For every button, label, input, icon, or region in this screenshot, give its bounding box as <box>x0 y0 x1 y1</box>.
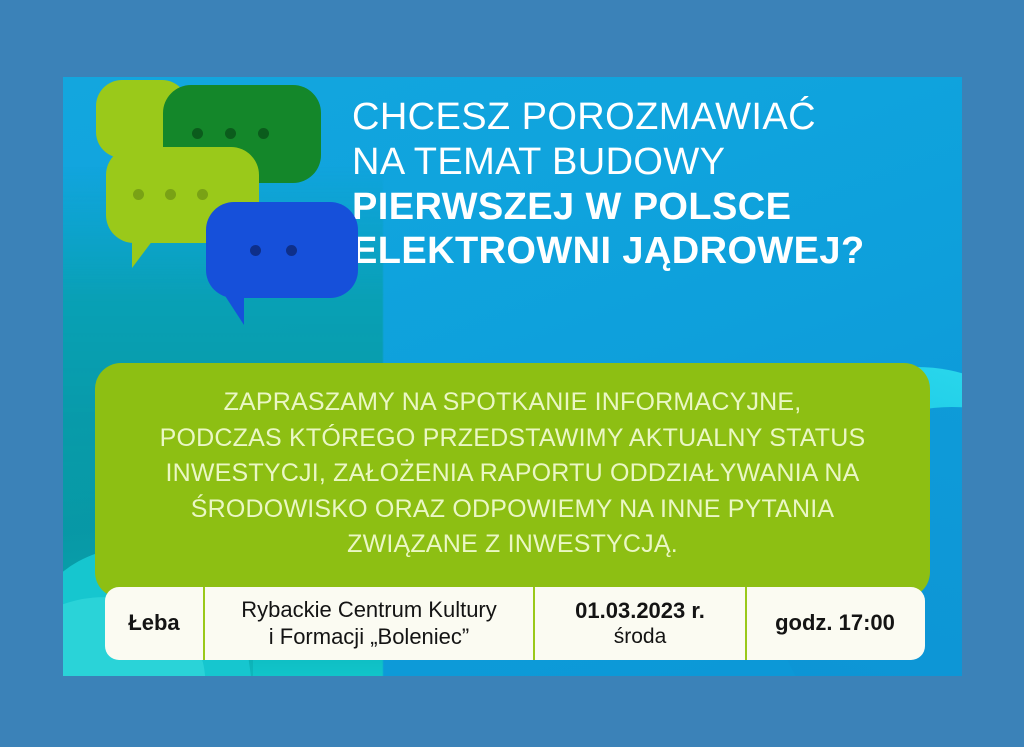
poster-headline: CHCESZ POROZMAWIAĆ NA TEMAT BUDOWY PIERW… <box>352 95 952 274</box>
dot <box>197 189 208 200</box>
speech-bubble-lime-dots <box>133 189 208 200</box>
event-weekday: środa <box>614 624 667 649</box>
event-poster: CHCESZ POROZMAWIAĆ NA TEMAT BUDOWY PIERW… <box>63 77 962 676</box>
event-time: godz. 17:00 <box>775 610 895 636</box>
invitation-text-panel: ZAPRASZAMY NA SPOTKANIE INFORMACYJNE, PO… <box>95 363 930 598</box>
dot <box>286 245 297 256</box>
speech-bubbles-illustration <box>96 80 386 330</box>
speech-bubble-green-dots <box>192 128 269 139</box>
detail-cell-date: 01.03.2023 r. środa <box>533 587 745 660</box>
event-place: Łeba <box>128 610 179 636</box>
detail-cell-place: Łeba <box>105 587 203 660</box>
dot <box>192 128 203 139</box>
speech-bubble-blue-tail-icon <box>218 285 244 325</box>
speech-bubble-blue-dots <box>250 245 297 256</box>
event-venue-line-2: i Formacji „Boleniec” <box>269 624 470 650</box>
dot <box>250 245 261 256</box>
headline-line-1: CHCESZ POROZMAWIAĆ <box>352 95 952 140</box>
body-line-4: ŚRODOWISKO ORAZ ODPOWIEMY NA INNE PYTANI… <box>109 492 916 528</box>
event-date: 01.03.2023 r. <box>575 598 705 624</box>
dot <box>133 189 144 200</box>
dot <box>258 128 269 139</box>
event-details-bar: Łeba Rybackie Centrum Kultury i Formacji… <box>105 587 925 660</box>
headline-line-2: NA TEMAT BUDOWY <box>352 140 952 185</box>
body-line-1: ZAPRASZAMY NA SPOTKANIE INFORMACYJNE, <box>109 385 916 421</box>
event-venue-line-1: Rybackie Centrum Kultury <box>241 597 497 623</box>
detail-cell-venue: Rybackie Centrum Kultury i Formacji „Bol… <box>203 587 533 660</box>
headline-line-4: ELEKTROWNI JĄDROWEJ? <box>352 229 952 274</box>
body-line-2: PODCZAS KTÓREGO PRZEDSTAWIMY AKTUALNY ST… <box>109 421 916 457</box>
headline-line-3: PIERWSZEJ W POLSCE <box>352 185 952 230</box>
detail-cell-time: godz. 17:00 <box>745 587 923 660</box>
speech-bubble-blue-icon <box>206 202 358 298</box>
dot <box>225 128 236 139</box>
body-line-3: INWESTYCJI, ZAŁOŻENIA RAPORTU ODDZIAŁYWA… <box>109 456 916 492</box>
screenshot-canvas: CHCESZ POROZMAWIAĆ NA TEMAT BUDOWY PIERW… <box>0 0 1024 747</box>
body-line-5: ZWIĄZANE Z INWESTYCJĄ. <box>109 527 916 563</box>
speech-bubble-lime-tail-icon <box>132 236 156 268</box>
dot <box>165 189 176 200</box>
